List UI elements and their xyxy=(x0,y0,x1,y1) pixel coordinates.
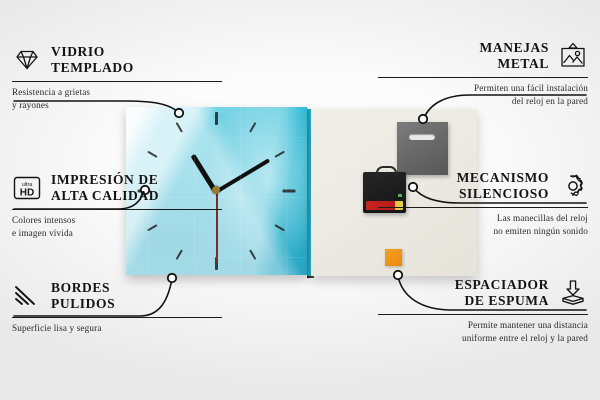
callout-description: Resistencia a grietas y rayones xyxy=(12,86,222,111)
callout-description: Colores intensos e imagen vívida xyxy=(12,214,222,239)
callout-header: BORDES PULIDOS xyxy=(12,280,222,312)
callout-impresion-alta-calidad[interactable]: ultra HD IMPRESIÓN DE ALTA CALIDAD Color… xyxy=(12,172,222,240)
clock-tick xyxy=(274,151,285,158)
callout-header: ultra HD IMPRESIÓN DE ALTA CALIDAD xyxy=(12,172,222,204)
callout-title: ESPACIADOR DE ESPUMA xyxy=(455,277,549,309)
callout-description: Permiten una fácil instalación del reloj… xyxy=(378,82,588,107)
clock-tick xyxy=(283,190,296,193)
clock-tick xyxy=(176,249,183,260)
callout-header: MANEJAS METAL xyxy=(378,40,588,72)
callout-vidrio-templado[interactable]: VIDRIO TEMPLADO Resistencia a grietas y … xyxy=(12,44,222,112)
clock-tick xyxy=(249,249,256,260)
clock-tick xyxy=(215,257,218,270)
callout-title: BORDES PULIDOS xyxy=(51,280,115,312)
callout-divider xyxy=(378,207,588,209)
callout-divider xyxy=(378,77,588,79)
polished-edge-icon xyxy=(12,281,42,311)
hanger-slot xyxy=(409,134,435,140)
clock-minute-hand xyxy=(215,158,270,193)
metal-hanger-plate xyxy=(397,122,448,175)
foam-spacer-icon xyxy=(558,278,588,308)
clock-tick xyxy=(176,122,183,133)
diamond-icon xyxy=(12,45,42,75)
callout-divider xyxy=(378,314,588,316)
callout-divider xyxy=(12,209,222,211)
clock-tick xyxy=(274,224,285,231)
callout-manejas-metal[interactable]: MANEJAS METAL Permiten una fácil instala… xyxy=(378,40,588,108)
clock-tick xyxy=(249,122,256,133)
wall-hanger-frame-icon xyxy=(558,41,588,71)
callout-description: Superficie lisa y segura xyxy=(12,322,222,335)
callout-title: MANEJAS METAL xyxy=(480,40,549,72)
callout-title: VIDRIO TEMPLADO xyxy=(51,44,134,76)
callout-header: VIDRIO TEMPLADO xyxy=(12,44,222,76)
callout-title: MECANISMO SILENCIOSO xyxy=(457,170,549,202)
callout-divider xyxy=(12,81,222,83)
infographic-stage: VIDRIO TEMPLADO Resistencia a grietas y … xyxy=(0,0,600,400)
callout-header: MECANISMO SILENCIOSO xyxy=(378,170,588,202)
callout-description: Permite mantener una distancia uniforme … xyxy=(378,319,588,344)
foam-spacer-pad xyxy=(385,249,402,266)
callout-mecanismo-silencioso[interactable]: MECANISMO SILENCIOSO Las manecillas del … xyxy=(378,170,588,238)
gear-icon xyxy=(558,171,588,201)
ultra-hd-icon: ultra HD xyxy=(12,173,42,203)
callout-espaciador-espuma[interactable]: ESPACIADOR DE ESPUMA Permite mantener un… xyxy=(378,277,588,345)
clock-tick xyxy=(215,112,218,125)
callout-bordes-pulidos[interactable]: BORDES PULIDOS Superficie lisa y segura xyxy=(12,280,222,335)
callout-header: ESPACIADOR DE ESPUMA xyxy=(378,277,588,309)
clock-tick xyxy=(147,151,158,158)
callout-description: Las manecillas del reloj no emiten ningú… xyxy=(378,212,588,237)
callout-divider xyxy=(12,317,222,319)
svg-text:HD: HD xyxy=(20,187,34,198)
callout-title: IMPRESIÓN DE ALTA CALIDAD xyxy=(51,172,159,204)
